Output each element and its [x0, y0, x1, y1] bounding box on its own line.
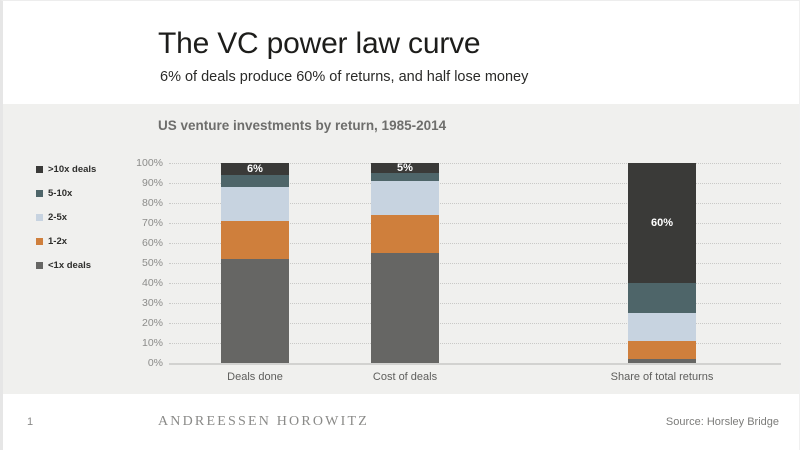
bar-segment[interactable]	[221, 175, 289, 187]
legend-swatch-icon	[36, 190, 43, 197]
y-axis-tick-label: 20%	[117, 317, 163, 329]
legend-item[interactable]: 2-5x	[36, 205, 128, 229]
legend-item-label: <1x deals	[48, 260, 91, 271]
bar-segment[interactable]	[371, 215, 439, 253]
legend-swatch-icon	[36, 262, 43, 269]
bar-value-label: 6%	[221, 163, 289, 175]
source-note: Source: Horsley Bridge	[666, 416, 779, 428]
y-axis-tick-label: 10%	[117, 337, 163, 349]
legend-swatch-icon	[36, 214, 43, 221]
page-title: The VC power law curve	[158, 27, 480, 61]
bar-segment[interactable]: 6%	[221, 163, 289, 175]
slide: The VC power law curve 6% of deals produ…	[0, 0, 800, 450]
bar-segment[interactable]	[221, 259, 289, 363]
y-axis-tick-label: 70%	[117, 217, 163, 229]
legend-item[interactable]: <1x deals	[36, 253, 128, 277]
bar-segment[interactable]	[628, 283, 696, 313]
plot-area: 100%90%80%70%60%50%40%30%20%10%0% 6%5%60…	[169, 163, 781, 363]
legend-item[interactable]: 1-2x	[36, 229, 128, 253]
legend-item[interactable]: 5-10x	[36, 181, 128, 205]
y-axis-tick-label: 50%	[117, 257, 163, 269]
x-axis-tick-label: Cost of deals	[315, 371, 495, 383]
legend-item-label: >10x deals	[48, 164, 96, 175]
page-number: 1	[27, 416, 33, 428]
legend-item-label: 5-10x	[48, 188, 72, 199]
y-axis-tick-label: 30%	[117, 297, 163, 309]
y-axis-tick-label: 60%	[117, 237, 163, 249]
chart-legend: >10x deals5-10x2-5x1-2x<1x deals	[36, 157, 128, 277]
legend-item-label: 1-2x	[48, 236, 67, 247]
slide-footer: 1 ANDREESSEN HOROWITZ Source: Horsley Br…	[3, 394, 800, 450]
stacked-bar[interactable]: 60%	[628, 163, 696, 363]
bar-segment[interactable]	[628, 359, 696, 363]
legend-swatch-icon	[36, 166, 43, 173]
bar-segment[interactable]	[628, 313, 696, 341]
y-axis-tick-label: 100%	[117, 157, 163, 169]
chart-title: US venture investments by return, 1985-2…	[158, 118, 446, 133]
x-axis-line	[169, 363, 781, 365]
bar-value-label: 60%	[628, 217, 696, 229]
brand-wordmark: ANDREESSEN HOROWITZ	[158, 414, 369, 430]
legend-item[interactable]: >10x deals	[36, 157, 128, 181]
slide-header: The VC power law curve 6% of deals produ…	[3, 1, 800, 104]
legend-swatch-icon	[36, 238, 43, 245]
bar-segment[interactable]	[371, 173, 439, 181]
chart-panel: US venture investments by return, 1985-2…	[3, 104, 800, 394]
bar-segment[interactable]	[371, 181, 439, 215]
legend-item-label: 2-5x	[48, 212, 67, 223]
bar-segment[interactable]	[628, 341, 696, 359]
y-axis-tick-label: 80%	[117, 197, 163, 209]
x-axis-tick-label: Share of total returns	[572, 371, 752, 383]
page-subtitle: 6% of deals produce 60% of returns, and …	[160, 69, 528, 85]
bar-segment[interactable]: 60%	[628, 163, 696, 283]
stacked-bar[interactable]: 5%	[371, 163, 439, 363]
bar-segment[interactable]	[221, 187, 289, 221]
stacked-bar[interactable]: 6%	[221, 163, 289, 363]
bar-segment[interactable]	[221, 221, 289, 259]
y-axis-tick-label: 40%	[117, 277, 163, 289]
y-axis-tick-label: 90%	[117, 177, 163, 189]
bar-segment[interactable]: 5%	[371, 163, 439, 173]
y-axis-tick-label: 0%	[117, 357, 163, 369]
bar-segment[interactable]	[371, 253, 439, 363]
